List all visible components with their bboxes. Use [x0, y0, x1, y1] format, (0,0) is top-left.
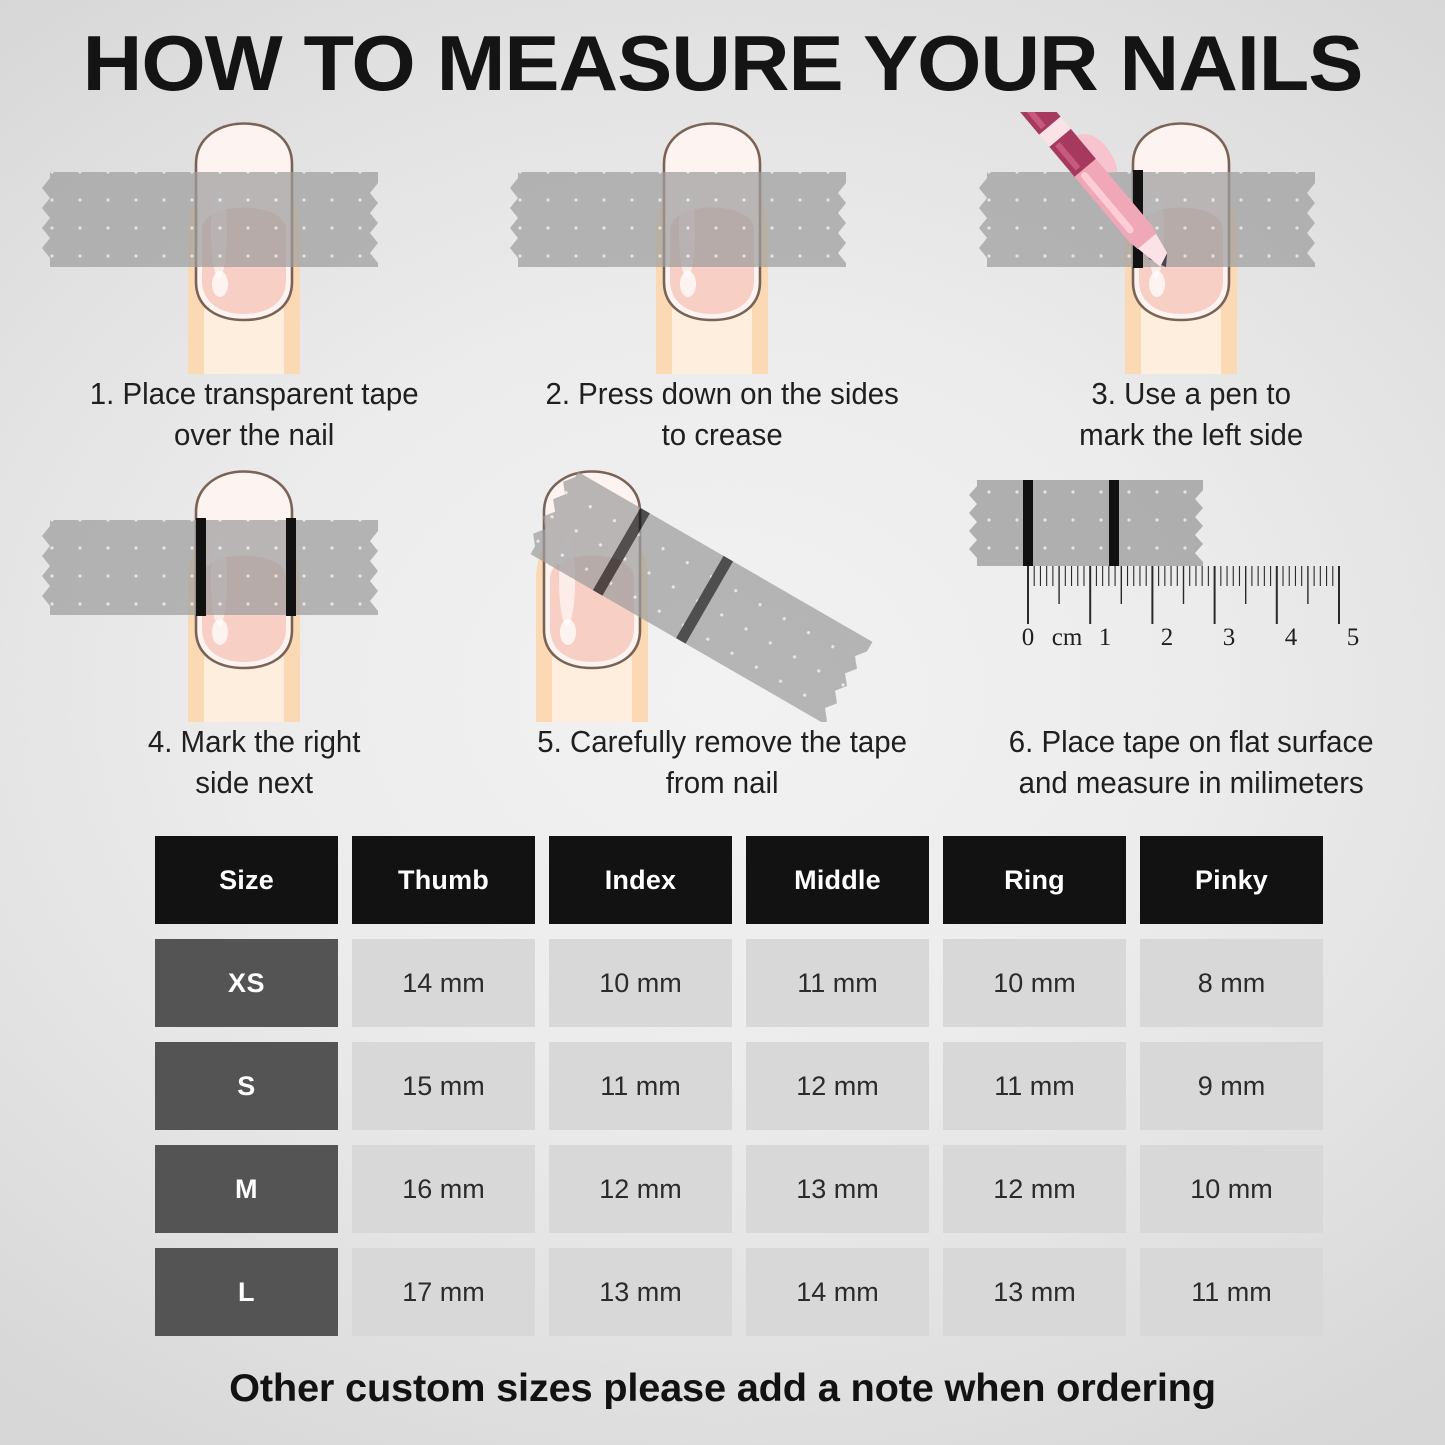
- step-4-illustration: [20, 460, 488, 722]
- step-1-illustration: [20, 112, 488, 374]
- size-table: SizeThumbIndexMiddleRingPinky XS14 mm10 …: [155, 836, 1323, 1336]
- table-cell: 9 mm: [1140, 1042, 1323, 1130]
- ruler-label-5: 5: [1346, 624, 1359, 651]
- table-cell: 13 mm: [943, 1248, 1126, 1336]
- table-cell: 12 mm: [746, 1042, 929, 1130]
- table-header-index: Index: [549, 836, 732, 924]
- ruler-label-0: 0: [1021, 624, 1034, 651]
- mark-right-4: [286, 518, 296, 616]
- table-header-row: SizeThumbIndexMiddleRingPinky: [155, 836, 1323, 924]
- mark-right-6: [1109, 480, 1119, 566]
- step-5-illustration: [488, 460, 956, 722]
- table-cell: 10 mm: [943, 939, 1126, 1027]
- step-3-illustration: [957, 112, 1425, 374]
- ruler-label-4: 4: [1284, 624, 1297, 651]
- size-label-l: L: [155, 1248, 338, 1336]
- ruler-label-2: 2: [1160, 624, 1173, 651]
- table-header-middle: Middle: [746, 836, 929, 924]
- tape-4: [42, 520, 378, 615]
- table-cell: 13 mm: [549, 1248, 732, 1336]
- size-label-s: S: [155, 1042, 338, 1130]
- step-6: 0 cm 1 2 3 4 5 6. Place tape on flat sur…: [957, 460, 1425, 808]
- page-title: HOW TO MEASURE YOUR NAILS: [0, 24, 1445, 102]
- table-cell: 11 mm: [746, 939, 929, 1027]
- table-cell: 13 mm: [746, 1145, 929, 1233]
- step-6-illustration: 0 cm 1 2 3 4 5: [957, 460, 1425, 722]
- step-2-caption: 2. Press down on the sides to crease: [497, 374, 949, 455]
- table-cell: 15 mm: [352, 1042, 535, 1130]
- tape-1: [42, 172, 378, 267]
- table-cell: 11 mm: [943, 1042, 1126, 1130]
- step-6-caption: 6. Place tape on flat surface and measur…: [965, 722, 1417, 803]
- table-header-thumb: Thumb: [352, 836, 535, 924]
- table-cell: 12 mm: [549, 1145, 732, 1233]
- table-cell: 12 mm: [943, 1145, 1126, 1233]
- ruler-labels: 0 cm 1 2 3 4 5: [1021, 624, 1359, 651]
- ruler-label-3: 3: [1222, 624, 1235, 651]
- ruler-unit-label: cm: [1051, 624, 1082, 651]
- table-cell: 14 mm: [746, 1248, 929, 1336]
- step-1: 1. Place transparent tape over the nail: [20, 112, 488, 460]
- table-cell: 11 mm: [1140, 1248, 1323, 1336]
- table-row: S15 mm11 mm12 mm11 mm9 mm: [155, 1042, 1323, 1130]
- table-cell: 8 mm: [1140, 939, 1323, 1027]
- tape-6: [969, 480, 1203, 566]
- step-3-caption: 3. Use a pen to mark the left side: [965, 374, 1417, 455]
- table-cell: 11 mm: [549, 1042, 732, 1130]
- step-5-caption: 5. Carefully remove the tape from nail: [497, 722, 949, 803]
- table-header-ring: Ring: [943, 836, 1126, 924]
- step-4: 4. Mark the right side next: [20, 460, 488, 808]
- size-label-m: M: [155, 1145, 338, 1233]
- table-row: L17 mm13 mm14 mm13 mm11 mm: [155, 1248, 1323, 1336]
- step-2-illustration: [488, 112, 956, 374]
- step-4-caption: 4. Mark the right side next: [28, 722, 480, 803]
- step-3: 3. Use a pen to mark the left side: [957, 112, 1425, 460]
- step-2: 2. Press down on the sides to crease: [488, 112, 956, 460]
- table-row: XS14 mm10 mm11 mm10 mm8 mm: [155, 939, 1323, 1027]
- table-cell: 16 mm: [352, 1145, 535, 1233]
- table-row: M16 mm12 mm13 mm12 mm10 mm: [155, 1145, 1323, 1233]
- table-cell: 10 mm: [549, 939, 732, 1027]
- size-label-xs: XS: [155, 939, 338, 1027]
- table-cell: 10 mm: [1140, 1145, 1323, 1233]
- ruler-label-1: 1: [1098, 624, 1111, 651]
- table-cell: 14 mm: [352, 939, 535, 1027]
- steps-grid: 1. Place transparent tape over the nail: [20, 112, 1425, 808]
- table-header-size: Size: [155, 836, 338, 924]
- ruler: [1028, 566, 1339, 624]
- step-1-caption: 1. Place transparent tape over the nail: [28, 374, 480, 455]
- mark-left-6: [1023, 480, 1033, 566]
- table-cell: 17 mm: [352, 1248, 535, 1336]
- tape-2: [510, 172, 846, 267]
- mark-left-4: [196, 518, 206, 616]
- table-header-pinky: Pinky: [1140, 836, 1323, 924]
- footer-note: Other custom sizes please add a note whe…: [0, 1367, 1445, 1411]
- step-5: 5. Carefully remove the tape from nail: [488, 460, 956, 808]
